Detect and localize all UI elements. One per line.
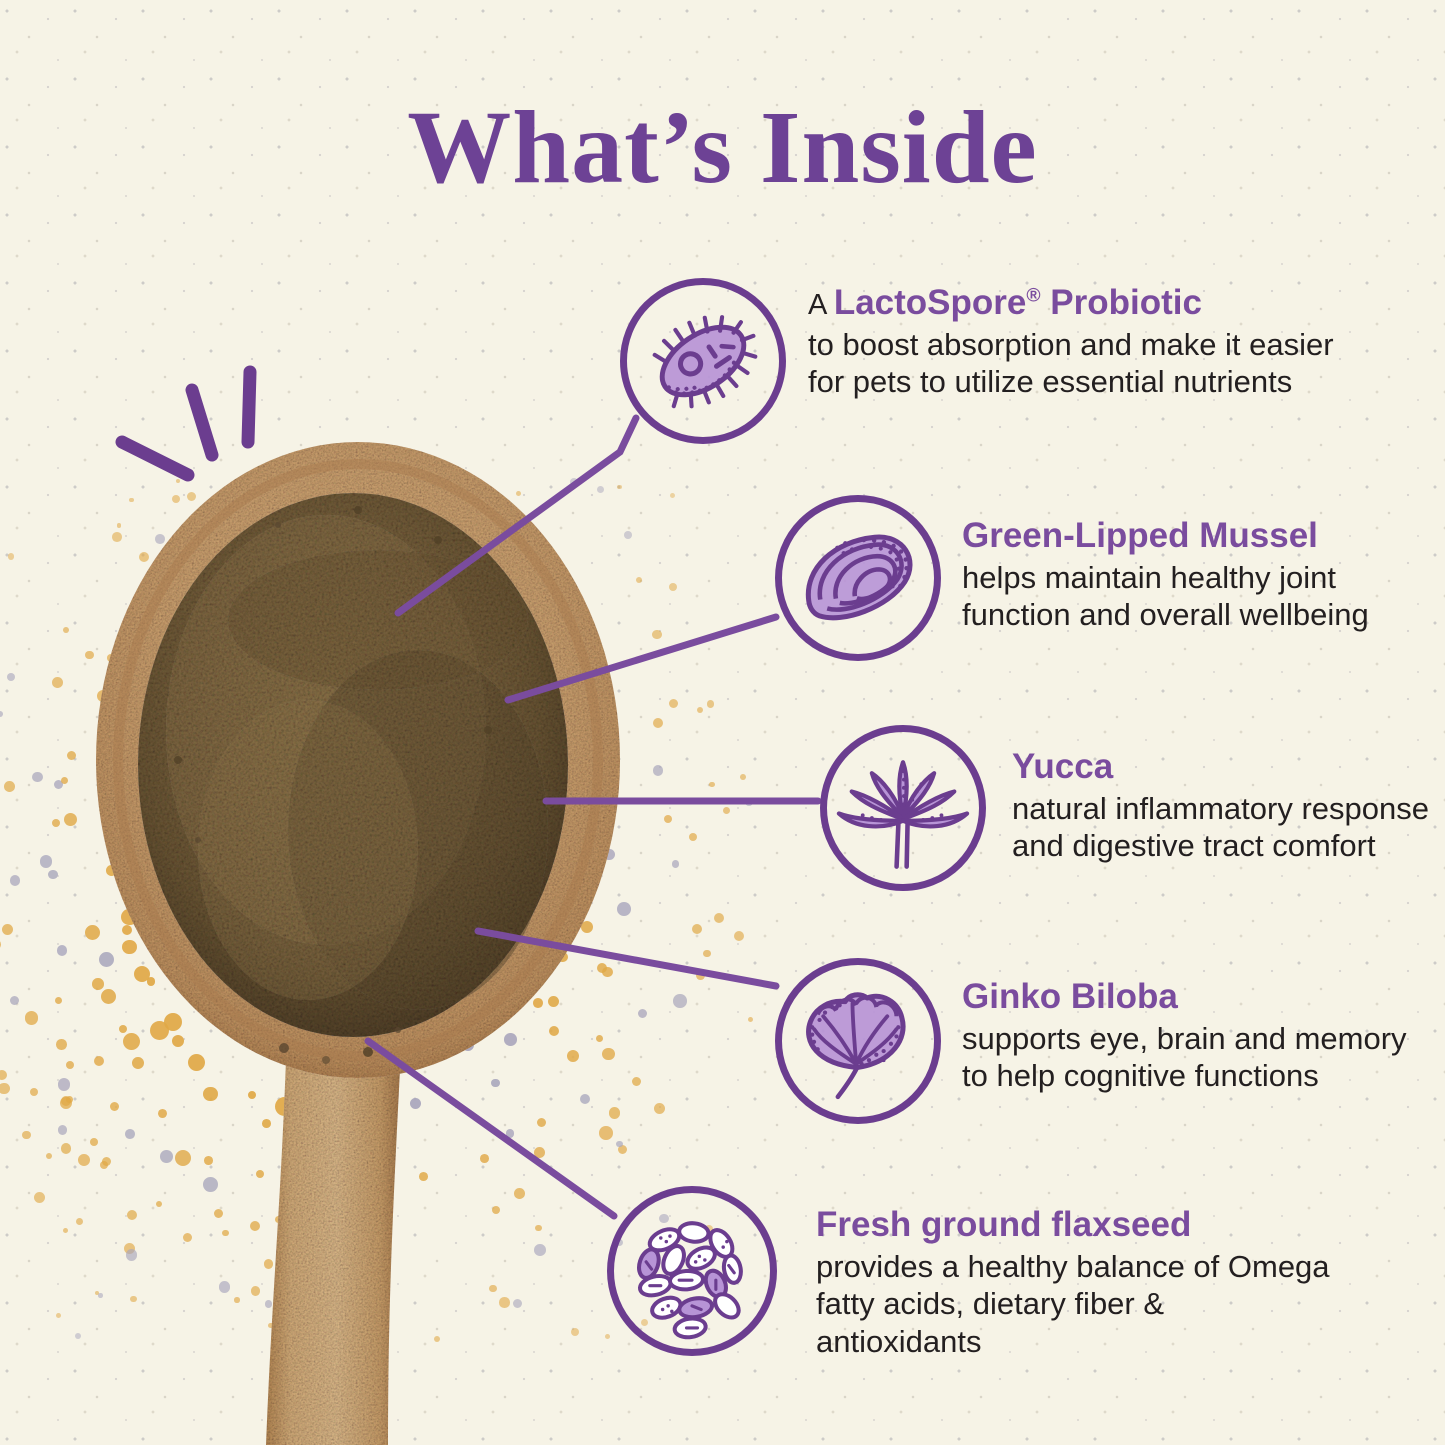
decor-sparkles (100, 350, 300, 490)
callout-heading-yucca: Yucca (1012, 748, 1442, 786)
callout-text-flaxseed: Fresh ground flaxseed provides a healthy… (816, 1206, 1336, 1360)
callout-body-green-lipped-mussel: helps maintain healthy joint function an… (962, 559, 1432, 634)
flaxseed-cluster-icon (607, 1186, 777, 1356)
callout-text-yucca: Yucca natural inflammatory response and … (1012, 748, 1442, 865)
callout-body-ginko-biloba: supports eye, brain and memory to help c… (962, 1020, 1432, 1095)
page-title: What’s Inside (0, 96, 1445, 200)
callout-lead-lactospore: A (808, 289, 834, 321)
callout-text-green-lipped-mussel: Green-Lipped Mussel helps maintain healt… (962, 517, 1432, 634)
callout-text-lactospore: A LactoSpore® Probiotic to boost absorpt… (808, 284, 1348, 401)
mussel-shell-icon (775, 495, 941, 661)
callout-heading-tail-lactospore: Probiotic (1041, 283, 1202, 322)
callout-brand-lactospore: LactoSpore (834, 283, 1027, 322)
callout-heading-flaxseed: Fresh ground flaxseed (816, 1206, 1336, 1244)
callout-heading-ginko-biloba: Ginko Biloba (962, 978, 1432, 1016)
infographic-canvas: What’s Inside (0, 0, 1445, 1445)
registered-mark: ® (1026, 285, 1040, 306)
callout-body-flaxseed: provides a healthy balance of Omega fatt… (816, 1248, 1336, 1361)
callout-heading-green-lipped-mussel: Green-Lipped Mussel (962, 517, 1432, 555)
callout-body-lactospore: to boost absorption and make it easier f… (808, 326, 1348, 401)
probiotic-bacteria-icon (620, 278, 786, 444)
ginkgo-leaf-icon (775, 958, 941, 1124)
wooden-spoon-photo (58, 430, 678, 1445)
callout-heading-lactospore: A LactoSpore® Probiotic (808, 284, 1348, 322)
yucca-plant-icon (820, 725, 986, 891)
callout-body-yucca: natural inflammatory response and digest… (1012, 790, 1442, 865)
callout-text-ginko-biloba: Ginko Biloba supports eye, brain and mem… (962, 978, 1432, 1095)
